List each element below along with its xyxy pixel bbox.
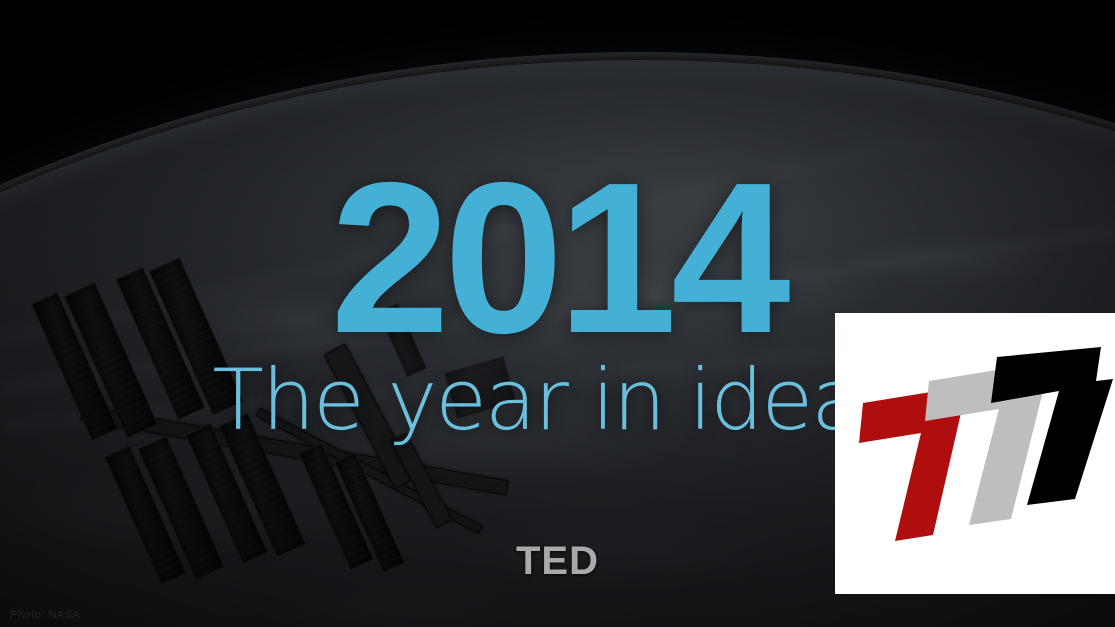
photo-credit-text: Photo: NASA <box>10 609 80 621</box>
slide-canvas: 2014 The year in ideas TED Photo: NASA <box>0 0 1115 627</box>
overlay-logo-card[interactable] <box>835 313 1115 594</box>
tnw-triple-t-logo <box>851 347 1115 559</box>
